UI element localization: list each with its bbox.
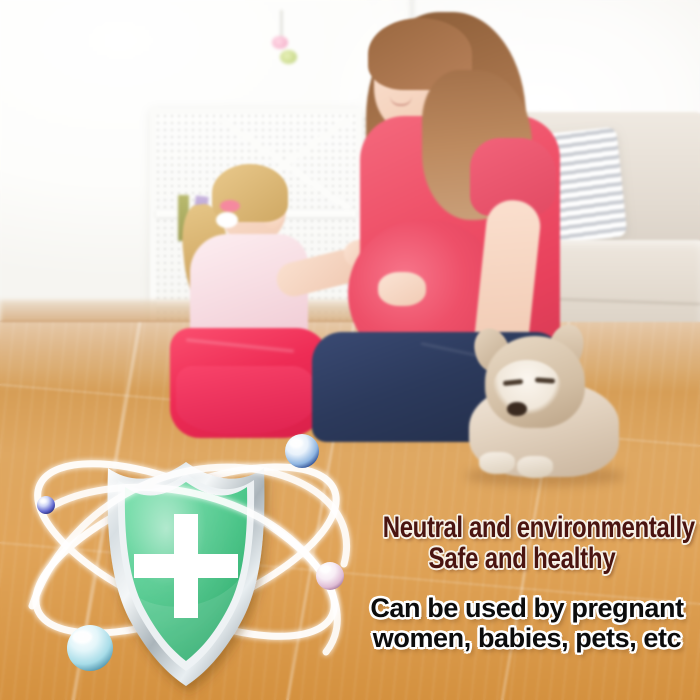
protection-shield (108, 462, 265, 686)
puppy-nose (507, 402, 527, 416)
headline-top: Neutral and environmentally friendly Saf… (383, 512, 661, 574)
deco-green-ball (280, 50, 297, 64)
headline-bottom-line1: Can be used by pregnant (364, 594, 690, 624)
deco-pink-ball (272, 36, 288, 49)
husky-puppy (455, 330, 635, 490)
headline-top-line1: Neutral and environmentally friendly (383, 512, 661, 543)
child-hair-tie (216, 212, 238, 228)
hanging-decoration (268, 10, 298, 80)
headline-top-line2: Safe and healthy (383, 543, 661, 574)
bead-lower-left (67, 625, 113, 671)
bead-left-small (37, 496, 55, 514)
bead-right-pink (316, 562, 344, 590)
headline-bottom: Can be used by pregnant women, babies, p… (364, 594, 690, 653)
headline-bottom-line2: women, babies, pets, etc (364, 624, 690, 654)
safety-badge (8, 410, 368, 700)
child-hand-on-belly (378, 272, 426, 306)
puppy-face-mask (493, 360, 561, 414)
child-hair-tie-pink (220, 200, 240, 212)
product-banner: Neutral and environmentally friendly Saf… (0, 0, 700, 700)
puppy-paw-right (517, 456, 553, 478)
puppy-paw-left (479, 452, 515, 474)
bead-upper-right (285, 434, 319, 468)
